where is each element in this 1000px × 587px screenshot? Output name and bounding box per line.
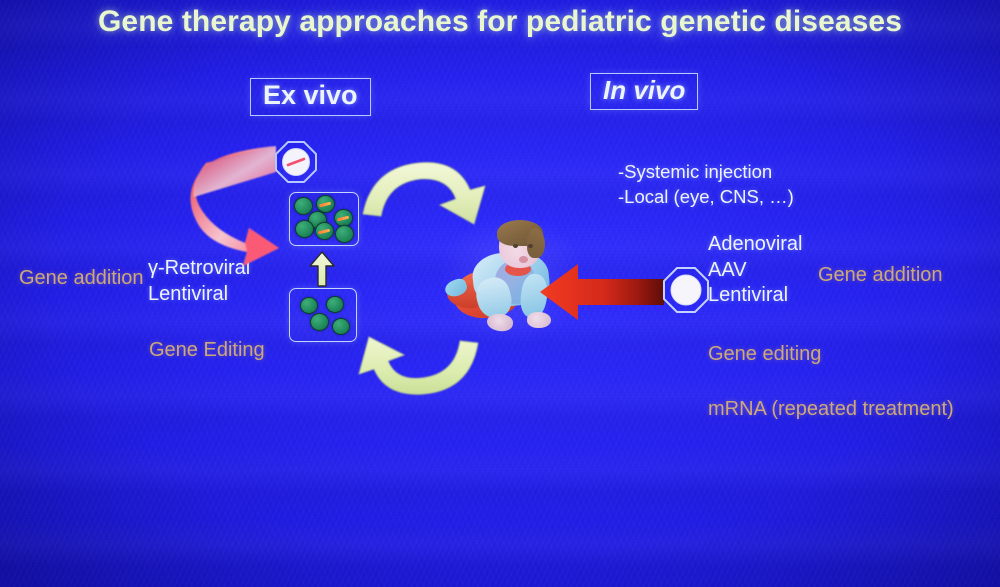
- ex-vivo-transduction-arrow: [190, 146, 279, 266]
- transduction-up-arrow: [310, 252, 334, 286]
- slide-canvas: Gene therapy approaches for pediatric ge…: [0, 0, 1000, 587]
- ex-vivo-vector-particle: [276, 142, 316, 182]
- diagram-arrows-layer: [0, 0, 1000, 587]
- in-vivo-vector-particle: [664, 268, 708, 312]
- cells-harvested-arrow: [359, 337, 478, 394]
- cells-returned-arrow: [363, 163, 485, 224]
- in-vivo-delivery-arrow: [540, 264, 664, 320]
